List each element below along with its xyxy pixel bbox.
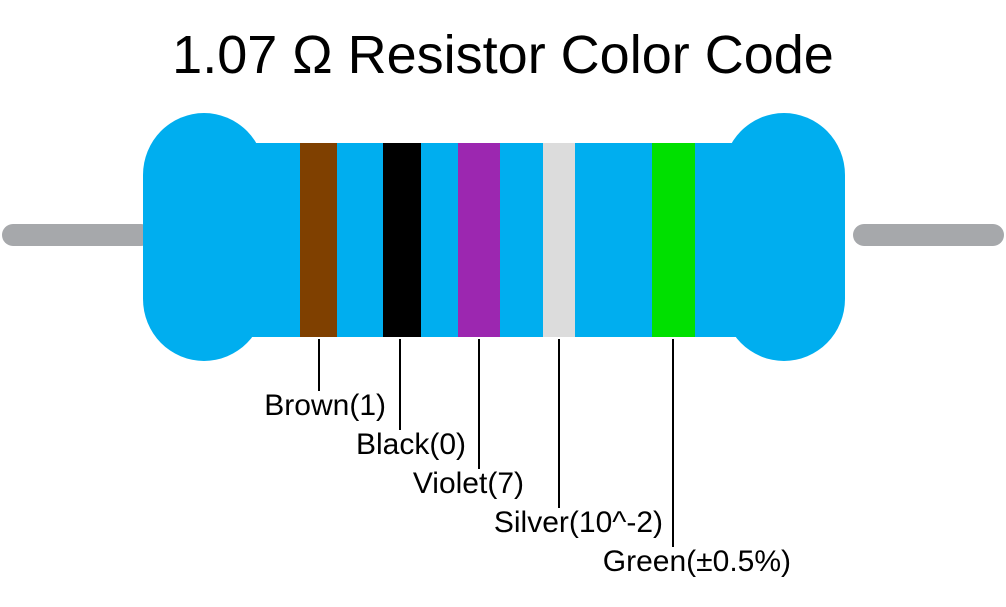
leader-line-violet — [478, 339, 480, 469]
leader-line-silver — [558, 339, 560, 508]
band-label-silver: Silver(10^-2) — [494, 506, 663, 540]
color-band-silver — [543, 143, 575, 337]
resistor-body — [143, 113, 845, 361]
leader-line-brown — [318, 339, 320, 391]
band-label-brown: Brown(1) — [264, 389, 386, 423]
color-band-black — [383, 143, 421, 337]
leader-line-black — [399, 339, 401, 430]
lead-wire-right — [853, 224, 1004, 246]
band-label-black: Black(0) — [356, 428, 466, 462]
band-label-violet: Violet(7) — [413, 467, 524, 501]
color-band-violet — [458, 143, 500, 337]
band-label-green: Green(±0.5%) — [603, 545, 791, 579]
color-band-brown — [300, 143, 337, 337]
lead-wire-left — [2, 224, 152, 246]
color-band-green — [652, 143, 695, 337]
resistor-barrel — [204, 143, 784, 337]
leader-line-green — [672, 339, 674, 547]
page-title: 1.07 Ω Resistor Color Code — [0, 24, 1006, 86]
resistor-color-code-diagram: 1.07 Ω Resistor Color Code Brown(1) Blac… — [0, 0, 1006, 607]
